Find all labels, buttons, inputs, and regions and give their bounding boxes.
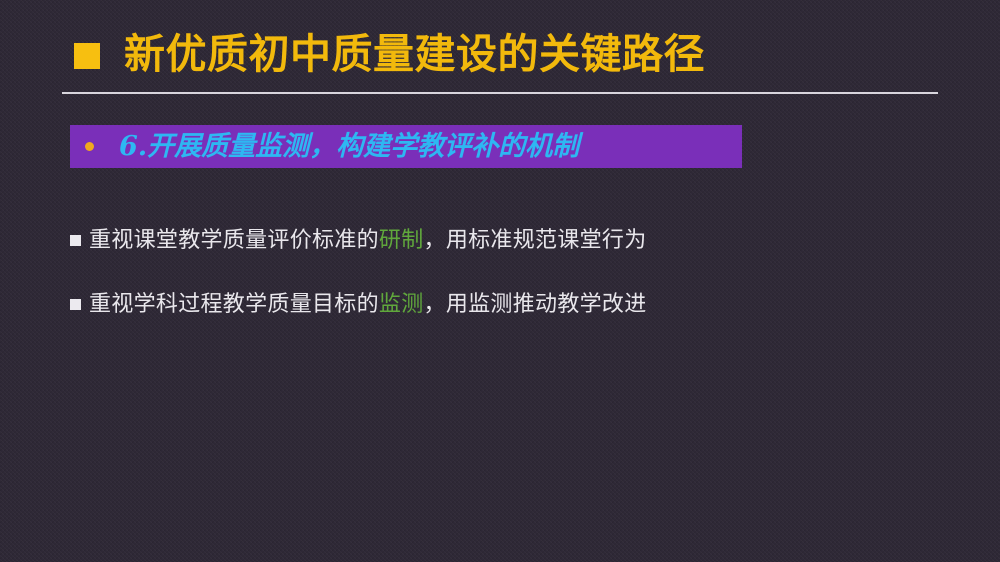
square-bullet-icon — [70, 235, 81, 246]
subtitle-label: 6.开展质量监测，构建学教评补的机制 — [119, 133, 579, 160]
list-item-highlight: 研制 — [379, 228, 424, 253]
list-item-text: 重视课堂教学质量评价标准的研制，用标准规范课堂行为 — [89, 226, 647, 256]
list-item: 重视课堂教学质量评价标准的研制，用标准规范课堂行为 — [70, 226, 940, 256]
page-title: 新优质初中质量建设的关键路径 — [124, 34, 705, 75]
body-bullet-list: 重视课堂教学质量评价标准的研制，用标准规范课堂行为 重视学科过程教学质量目标的监… — [70, 226, 940, 353]
title-divider — [62, 92, 938, 94]
slide-title-row: 新优质初中质量建设的关键路径 — [74, 26, 705, 82]
list-item-text: 重视学科过程教学质量目标的监测，用监测推动教学改进 — [89, 290, 647, 320]
list-item-tail: ，用监测推动教学改进 — [424, 292, 647, 317]
list-item-lead: 重视学科过程教学质量目标的 — [89, 292, 379, 317]
list-item-highlight: 监测 — [379, 292, 424, 317]
presentation-slide: 新优质初中质量建设的关键路径 6.开展质量监测，构建学教评补的机制 重视课堂教学… — [0, 0, 1000, 562]
subtitle-band: 6.开展质量监测，构建学教评补的机制 — [70, 125, 742, 168]
list-item-tail: ，用标准规范课堂行为 — [424, 228, 647, 253]
square-bullet-icon — [74, 43, 100, 69]
list-item: 重视学科过程教学质量目标的监测，用监测推动教学改进 — [70, 290, 940, 320]
dot-bullet-icon — [85, 142, 94, 151]
list-item-lead: 重视课堂教学质量评价标准的 — [89, 228, 379, 253]
square-bullet-icon — [70, 299, 81, 310]
